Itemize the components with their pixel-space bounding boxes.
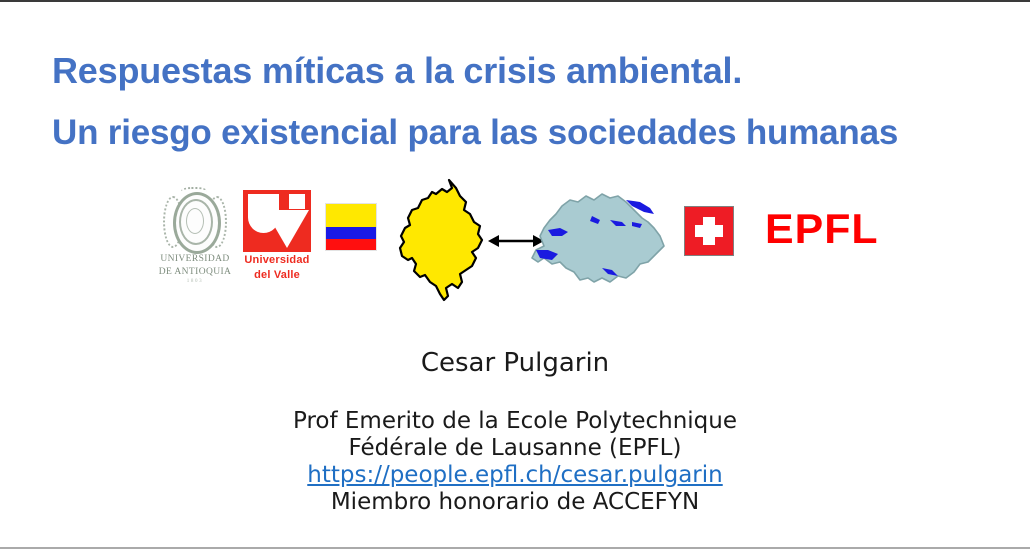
slide-title: Respuestas míticas a la crisis ambiental…: [52, 40, 992, 164]
epfl-logo: EPFL: [765, 206, 885, 252]
swiss-flag-icon: [684, 206, 734, 256]
title-line-2: Un riesgo existencial para las sociedade…: [52, 102, 992, 164]
univalle-mark-icon: [243, 190, 311, 252]
antioquia-seal-icon: [161, 190, 229, 252]
logo-strip: UNIVERSIDAD DE ANTIOQUIA 1803 Universida…: [0, 178, 1030, 313]
flag-band-yellow: [326, 204, 376, 227]
antioquia-label-line-2: DE ANTIOQUIA: [152, 267, 238, 278]
author-profile-link[interactable]: https://people.epfl.ch/cesar.pulgarin: [0, 462, 1030, 489]
universidad-del-valle-logo: Universidad del Valle: [240, 190, 314, 286]
flag-band-red: [326, 239, 376, 251]
univalle-label-line-2: del Valle: [240, 269, 314, 282]
swiss-cross-horizontal: [695, 225, 724, 237]
univalle-label-line-1: Universidad: [240, 254, 314, 267]
antioquia-label-line-1: UNIVERSIDAD: [152, 254, 238, 265]
affiliation-block: Prof Emerito de la Ecole Polytechnique F…: [0, 408, 1030, 516]
membership-line: Miembro honorario de ACCEFYN: [0, 489, 1030, 516]
title-line-1: Respuestas míticas a la crisis ambiental…: [52, 40, 992, 102]
flag-band-blue: [326, 227, 376, 239]
colombia-flag-icon: [325, 203, 377, 251]
switzerland-map-icon: [522, 188, 667, 288]
presentation-slide: Respuestas míticas a la crisis ambiental…: [0, 0, 1030, 549]
antioquia-year: 1803: [152, 279, 238, 284]
universidad-de-antioquia-logo: UNIVERSIDAD DE ANTIOQUIA 1803: [152, 190, 238, 286]
affiliation-line-2: Fédérale de Lausanne (EPFL): [0, 435, 1030, 462]
epfl-wordmark: EPFL: [765, 206, 887, 252]
affiliation-line-1: Prof Emerito de la Ecole Polytechnique: [0, 408, 1030, 435]
author-name: Cesar Pulgarin: [0, 348, 1030, 378]
colombia-map-icon: [392, 178, 497, 308]
